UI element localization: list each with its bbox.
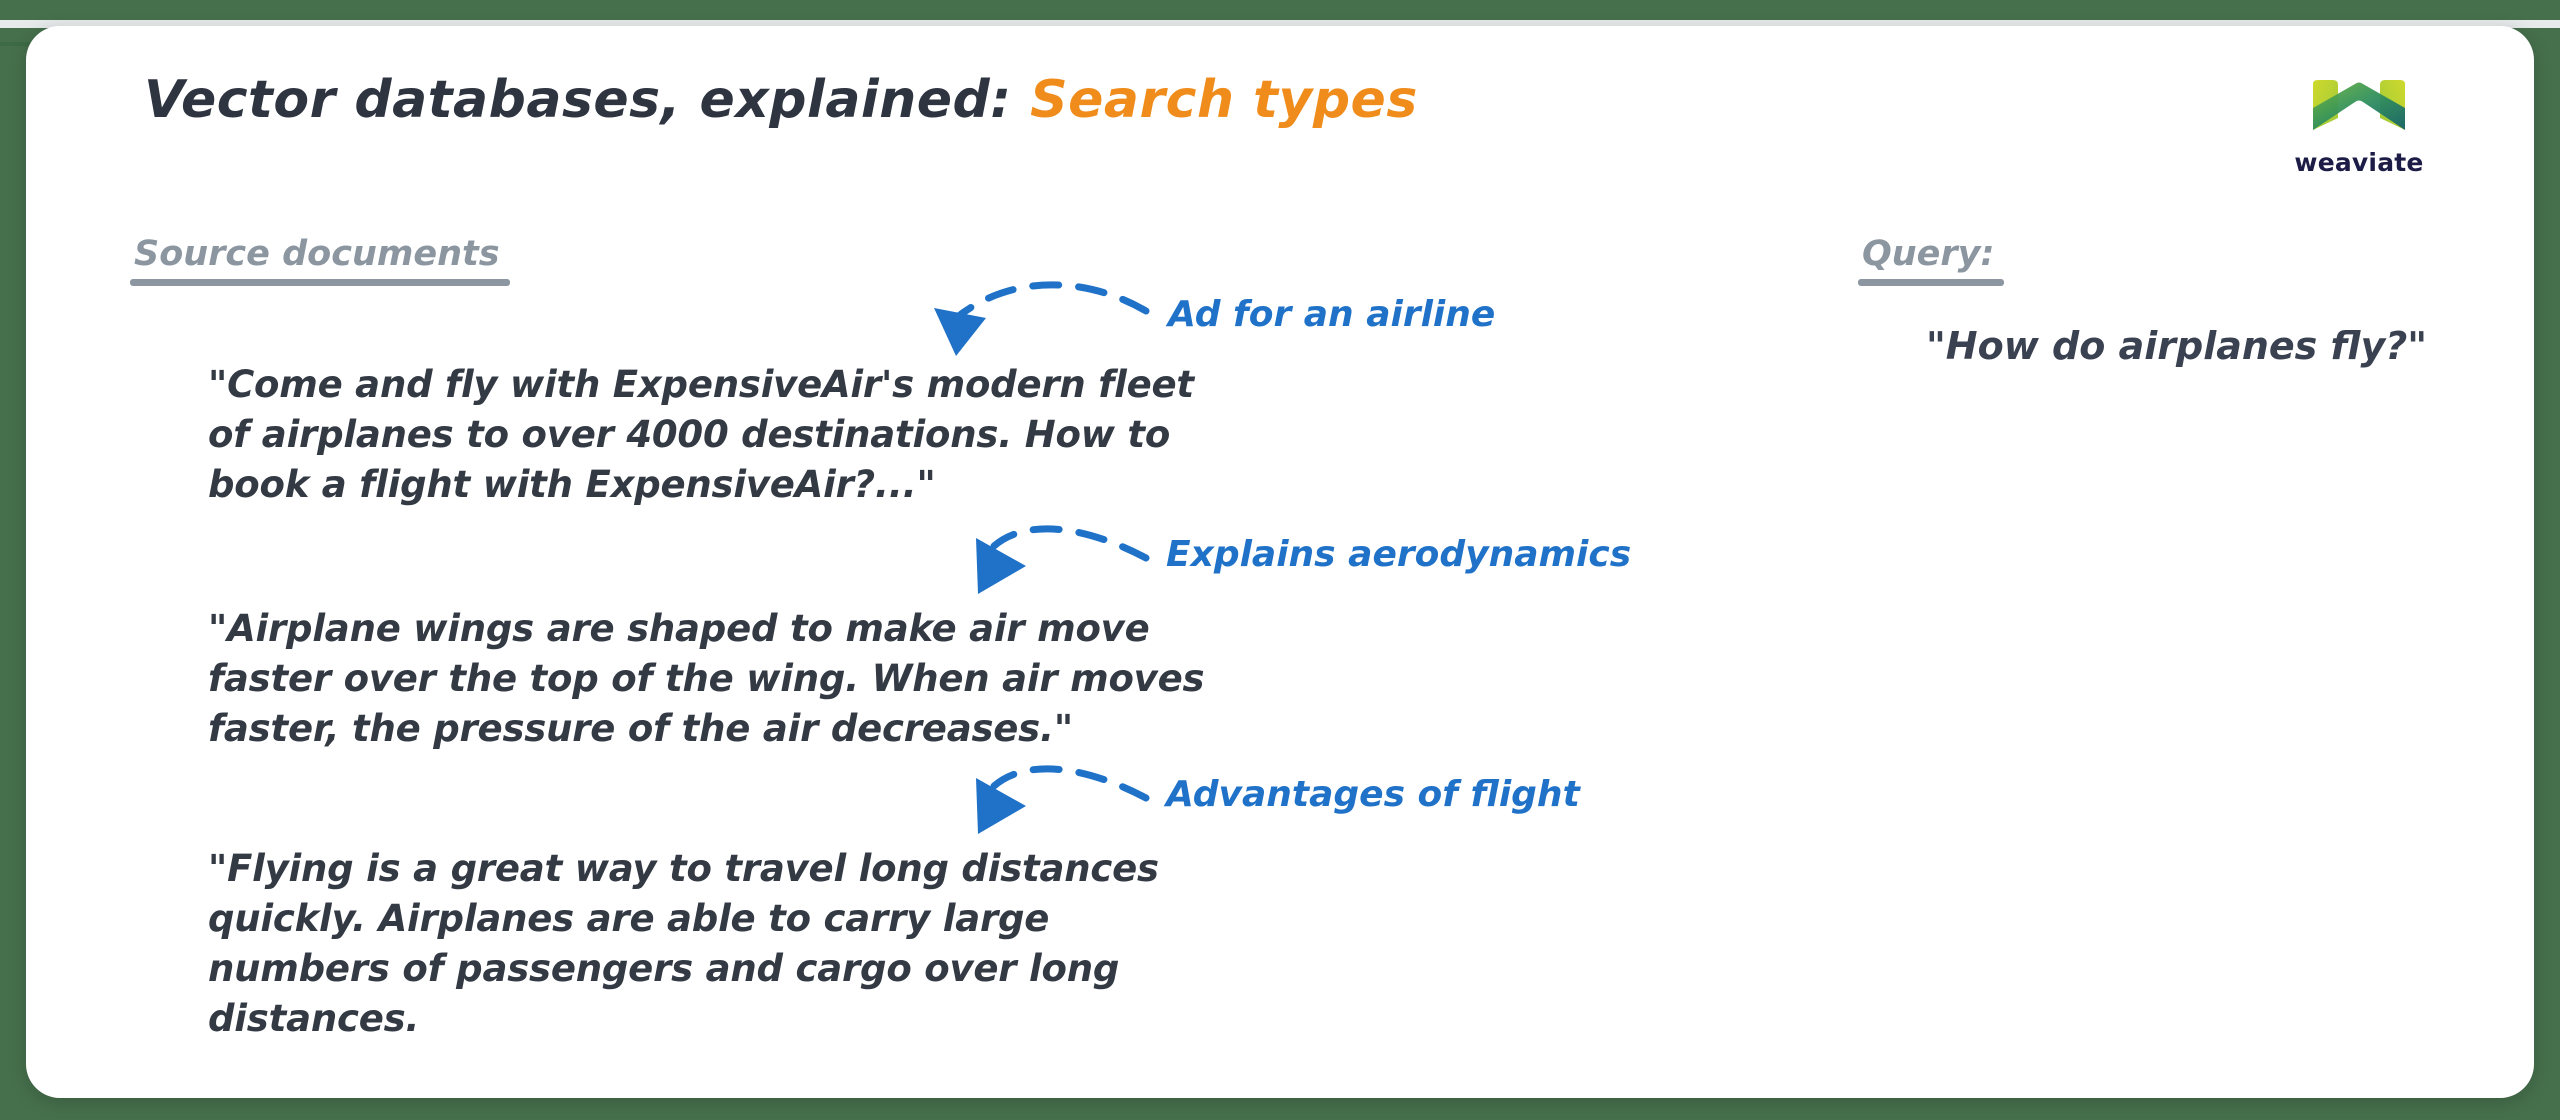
- annotation-label-aerodynamics: Explains aerodynamics: [1166, 534, 1631, 575]
- slide-card: Vector databases, explained: Search type…: [26, 26, 2534, 1098]
- page-title-accent: Search types: [1030, 70, 1418, 130]
- annotation-arrow-aerodynamics: [976, 529, 1146, 594]
- weaviate-wordmark: weaviate: [2284, 148, 2434, 177]
- page-title-main: Vector databases, explained:: [144, 70, 1030, 130]
- annotation-label-ad: Ad for an airline: [1168, 294, 1495, 335]
- source-document-aerodynamics: "Airplane wings are shaped to make air m…: [208, 604, 1228, 754]
- page-title: Vector databases, explained: Search type…: [144, 70, 1418, 130]
- annotation-label-advantages: Advantages of flight: [1166, 774, 1580, 815]
- weaviate-mark-icon: [2303, 78, 2415, 142]
- source-document-ad: "Come and fly with ExpensiveAir's modern…: [208, 360, 1228, 510]
- source-documents-heading: Source documents: [134, 234, 500, 274]
- weaviate-logo: weaviate: [2284, 78, 2434, 177]
- annotation-arrow-advantages: [976, 769, 1146, 834]
- annotation-arrow-ad: [934, 285, 1146, 356]
- query-text: "How do airplanes fly?": [1926, 324, 2427, 368]
- source-document-advantages: "Flying is a great way to travel long di…: [208, 844, 1228, 1044]
- query-heading: Query:: [1862, 234, 1994, 274]
